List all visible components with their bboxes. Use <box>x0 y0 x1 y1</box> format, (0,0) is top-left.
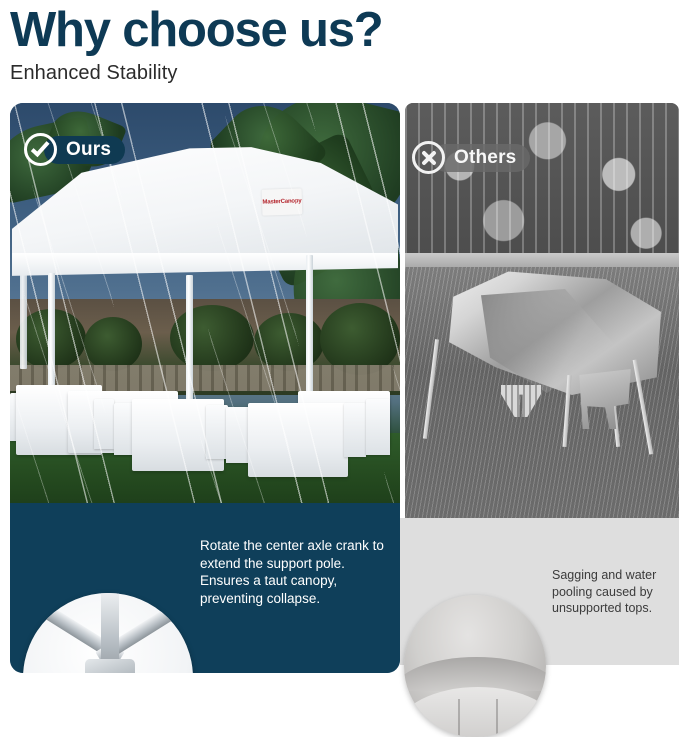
fabric-seam <box>458 699 460 737</box>
folding-chair <box>344 403 366 457</box>
shrub <box>84 317 142 371</box>
header: Why choose us? Enhanced Stability <box>0 0 679 86</box>
page-subtitle: Enhanced Stability <box>10 60 669 86</box>
canopy-leg <box>48 273 55 399</box>
comparison-section: MasterCanopy Rotate the center axle cran… <box>0 103 679 696</box>
banquet-table <box>248 403 348 477</box>
fabric-seam <box>496 699 498 737</box>
x-circle-icon <box>412 141 445 174</box>
canopy-leg <box>20 269 27 369</box>
check-circle-icon <box>24 133 57 166</box>
crank-detail-inset <box>23 593 193 673</box>
folding-chair <box>94 399 114 449</box>
others-badge-label: Others <box>432 144 530 172</box>
canopy-brand-logo: MasterCanopy <box>262 188 303 215</box>
others-panel: Sagging and water pooling caused by unsu… <box>405 103 679 665</box>
others-badge: Others <box>412 141 530 174</box>
ours-inset-wrapper <box>10 581 206 673</box>
sagging-top-inset <box>404 595 546 737</box>
ours-panel: MasterCanopy Rotate the center axle cran… <box>10 103 400 673</box>
page-title: Why choose us? <box>10 2 669 58</box>
folding-chair <box>226 407 250 463</box>
folding-chair <box>366 399 390 455</box>
folding-chair <box>206 405 228 459</box>
ours-badge: Ours <box>24 133 125 166</box>
x-mark-icon <box>420 149 438 167</box>
water-pool-band <box>404 657 546 691</box>
shrub <box>254 313 324 371</box>
ours-caption-text: Rotate the center axle crank to extend t… <box>200 537 394 607</box>
axle-hub <box>85 659 135 673</box>
check-mark-icon <box>30 138 49 157</box>
canopy-leg <box>186 275 193 405</box>
shrub <box>170 305 254 371</box>
sagging-fabric <box>404 687 546 737</box>
others-caption-text: Sagging and water pooling caused by unsu… <box>552 567 676 617</box>
